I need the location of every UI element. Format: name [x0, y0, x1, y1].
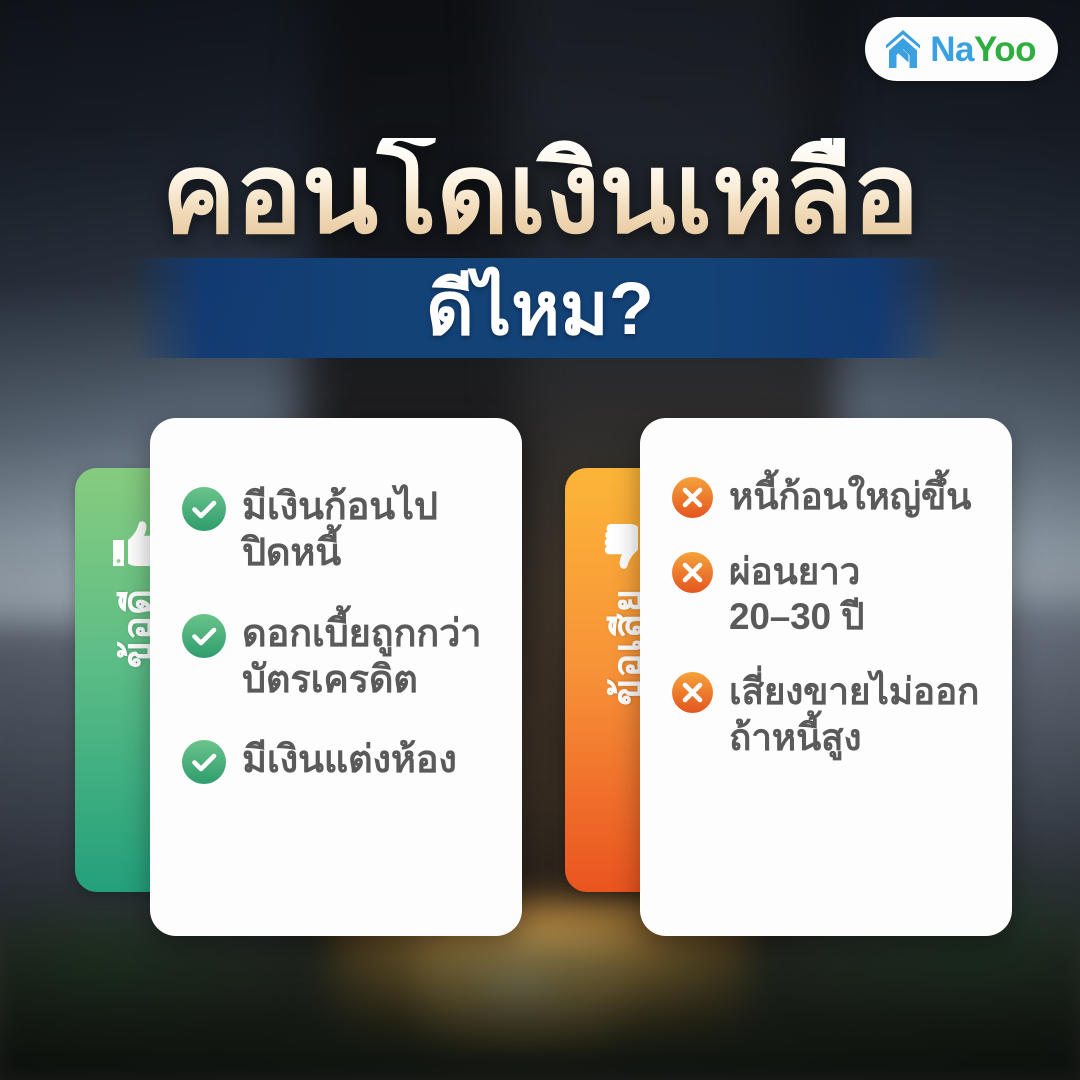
list-item-label: มีเงินแต่งห้อง	[242, 737, 457, 783]
brand-logo[interactable]: NaYoo	[865, 17, 1058, 81]
x-circle-icon	[672, 552, 713, 593]
brand-logo-text: NaYoo	[930, 32, 1036, 67]
list-item: มีเงินก้อนไปปิดหนี้	[182, 484, 498, 577]
page-title: คอนโดเงินเหลือ	[0, 138, 1080, 250]
list-item-label: มีเงินก้อนไปปิดหนี้	[242, 484, 438, 577]
list-item: ดอกเบี้ยถูกกว่าบัตรเครดิต	[182, 611, 498, 704]
list-item: ผ่อนยาว20–30 ปี	[672, 549, 988, 639]
list-item: หนี้ก้อนใหญ่ขึ้น	[672, 474, 988, 519]
list-item-label: ดอกเบี้ยถูกกว่าบัตรเครดิต	[242, 611, 481, 704]
x-circle-icon	[672, 672, 713, 713]
poster-canvas: NaYoo คอนโดเงินเหลือ ดีไหม? ข้อดี	[0, 0, 1080, 1080]
house-logo-icon	[883, 28, 923, 70]
check-circle-icon	[182, 740, 226, 784]
x-circle-icon	[672, 477, 713, 518]
cons-card: หนี้ก้อนใหญ่ขึ้น ผ่อนยาว20–30 ปี	[640, 418, 1012, 936]
check-circle-icon	[182, 487, 226, 531]
page-subtitle: ดีไหม?	[0, 263, 1080, 356]
cons-column: ข้อเสีย หนี้ก้อนใหญ่ขึ้น	[565, 418, 1012, 938]
list-item-label: หนี้ก้อนใหญ่ขึ้น	[729, 474, 971, 519]
brand-name-part2: Yoo	[974, 30, 1036, 69]
comparison-section: ข้อดี มีเงินก้อนไปปิดหนี้	[0, 418, 1080, 938]
list-item-label: ผ่อนยาว20–30 ปี	[729, 549, 864, 639]
list-item-label: เสี่ยงขายไม่ออกถ้าหนี้สูง	[729, 669, 979, 759]
list-item: มีเงินแต่งห้อง	[182, 737, 498, 784]
check-circle-icon	[182, 614, 226, 658]
pros-column: ข้อดี มีเงินก้อนไปปิดหนี้	[75, 418, 522, 938]
brand-name-part1: Na	[930, 30, 974, 69]
list-item: เสี่ยงขายไม่ออกถ้าหนี้สูง	[672, 669, 988, 759]
pros-card: มีเงินก้อนไปปิดหนี้ ดอกเบี้ยถูกกว่าบัตรเ…	[150, 418, 522, 936]
